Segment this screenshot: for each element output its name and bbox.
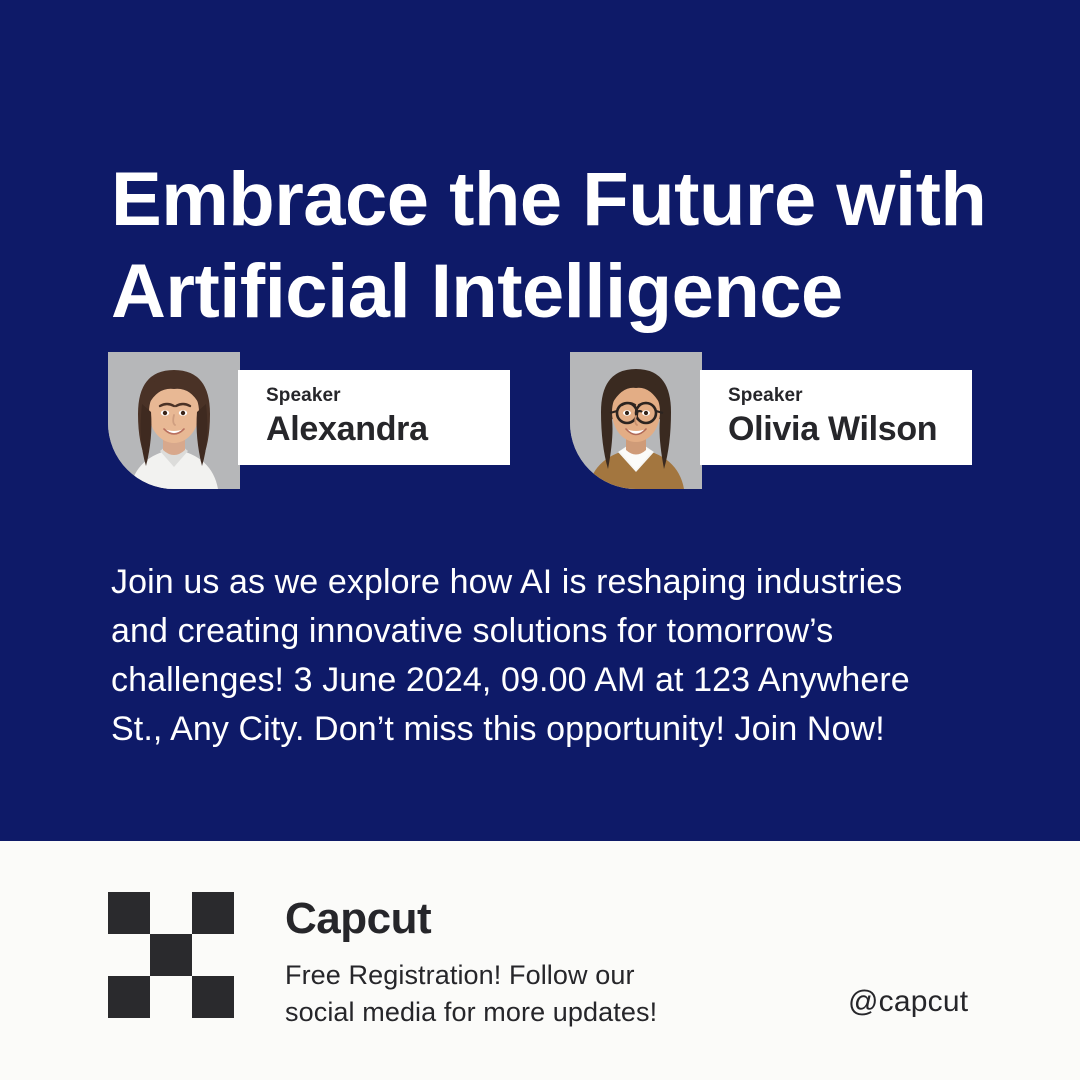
logo-cell-5 [150, 934, 192, 976]
event-description: Join us as we explore how AI is reshapin… [111, 558, 991, 754]
logo-cell-4 [108, 934, 150, 976]
logo-cell-9 [192, 976, 234, 1018]
body-line-3: challenges! 3 June 2024, 09.00 AM at 123… [111, 656, 991, 705]
speaker-list: Speaker Alexandra [0, 352, 1080, 492]
event-poster: Embrace the Future with Artificial Intel… [0, 0, 1080, 1080]
brand-block: Capcut Free Registration! Follow our soc… [285, 893, 765, 1031]
social-handle[interactable]: @capcut [848, 985, 968, 1019]
speaker-name-panel-olivia-wilson: Speaker Olivia Wilson [700, 370, 972, 465]
logo-cell-2 [150, 892, 192, 934]
brand-tagline: Free Registration! Follow our social med… [285, 957, 765, 1031]
avatar-olivia-wilson [570, 352, 702, 489]
brand-name: Capcut [285, 893, 765, 945]
speaker-name: Olivia Wilson [728, 408, 972, 450]
headline-line-1: Embrace the Future with [111, 154, 1011, 246]
page-title: Embrace the Future with Artificial Intel… [111, 154, 1011, 338]
checkerboard-x-logo-icon [108, 892, 234, 1018]
logo-cell-8 [150, 976, 192, 1018]
logo-cell-1 [108, 892, 150, 934]
body-line-2: and creating innovative solutions for to… [111, 607, 991, 656]
speaker-role-label: Speaker [728, 385, 972, 407]
logo-cell-7 [108, 976, 150, 1018]
speaker-name: Alexandra [266, 408, 510, 450]
body-line-1: Join us as we explore how AI is reshapin… [111, 558, 991, 607]
speaker-name-panel-alexandra: Speaker Alexandra [238, 370, 510, 465]
body-line-4: St., Any City. Don’t miss this opportuni… [111, 705, 991, 754]
logo-cell-3 [192, 892, 234, 934]
tagline-line-1: Free Registration! Follow our [285, 957, 765, 994]
avatar-alexandra [108, 352, 240, 489]
speaker-role-label: Speaker [266, 385, 510, 407]
headline-line-2: Artificial Intelligence [111, 246, 1011, 338]
tagline-line-2: social media for more updates! [285, 994, 765, 1031]
logo-cell-6 [192, 934, 234, 976]
